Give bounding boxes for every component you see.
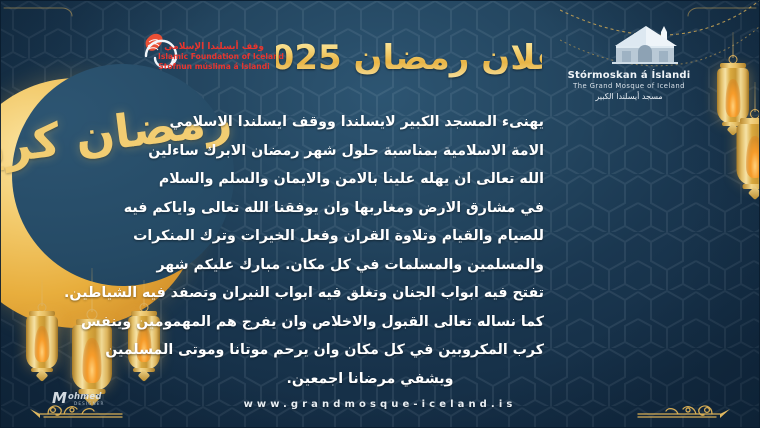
- body-line: تفتح فيه ابواب الجنان وتغلق فيه ابواب ال…: [196, 279, 544, 308]
- lantern-left-1: [22, 280, 62, 400]
- corner-flourish-top-left-icon: [2, 2, 92, 30]
- mosque-name-icelandic: Stórmoskan á Íslandi: [560, 70, 698, 81]
- body-line: كما نساله تعالى القبول والاخلاص وان يفرج…: [196, 308, 544, 337]
- announcement-body: يهنىء المسجد الكبير لايسلندا ووقف ايسلند…: [196, 108, 544, 393]
- body-line: والمسلمين والمسلمات في كل مكان. مبارك عل…: [196, 251, 544, 280]
- mosque-name-english: The Grand Mosque of Iceland: [560, 82, 698, 90]
- mosque-icon: [560, 22, 698, 64]
- body-line: ويشفي مرضانا اجمعين.: [196, 365, 544, 394]
- mosque-name-arabic: مسجد أيسلندا الكبير: [560, 92, 698, 101]
- page-title: إعلان رمضان 2025: [276, 32, 542, 84]
- body-line: الله تعالى ان يهله علينا بالامن والايمان…: [196, 165, 544, 194]
- body-line: في مشارق الارض ومغاربها وان يوفقنا الله …: [196, 194, 544, 223]
- body-line: كرب المكروبين في كل مكان وان يرحم موتانا…: [196, 336, 544, 365]
- ramadan-announcement-poster: رمضان كريم: [0, 0, 760, 428]
- grand-mosque-logo: Stórmoskan á Íslandi The Grand Mosque of…: [560, 22, 698, 101]
- body-line: للصيام والقيام وتلاوة القران وفعل الخيرا…: [196, 222, 544, 251]
- body-line: الامة الاسلامية بمناسبة حلول شهر رمضان ا…: [196, 137, 544, 166]
- website-url[interactable]: www.grandmosque-iceland.is: [0, 399, 760, 410]
- lantern-right-2: [732, 82, 760, 222]
- body-line: يهنىء المسجد الكبير لايسلندا ووقف ايسلند…: [196, 108, 544, 137]
- lantern-right-1: [712, 32, 754, 162]
